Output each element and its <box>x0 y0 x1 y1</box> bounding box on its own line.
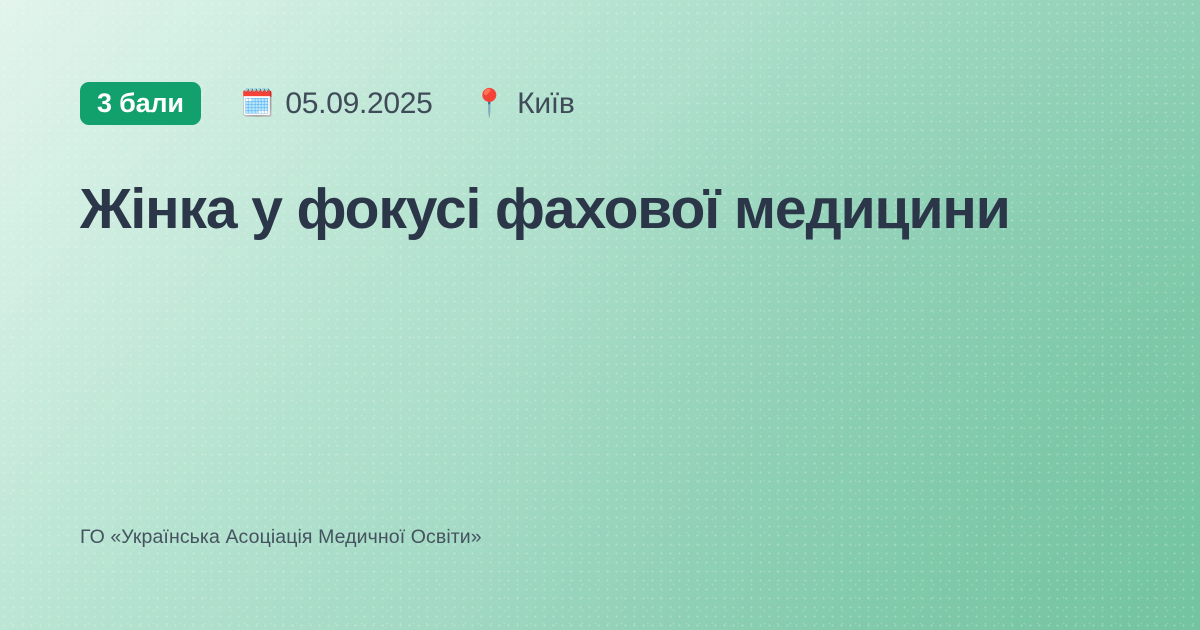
event-date-value: 05.09.2025 <box>285 89 432 119</box>
event-location: 📍 Київ <box>473 89 575 119</box>
calendar-icon: 🗓️ <box>241 90 275 117</box>
organizer-name: ГО «Українська Асоціація Медичної Освіти… <box>80 525 482 550</box>
card-content: 3 бали 🗓️ 05.09.2025 📍 Київ Жінка у фоку… <box>80 0 1120 630</box>
event-location-value: Київ <box>517 89 574 119</box>
event-meta-row: 3 бали 🗓️ 05.09.2025 📍 Київ <box>80 82 574 125</box>
page-title: Жінка у фокусі фахової медицини <box>80 178 1010 242</box>
points-badge: 3 бали <box>80 82 201 125</box>
map-pin-icon: 📍 <box>473 90 507 117</box>
event-announcement-card: 3 бали 🗓️ 05.09.2025 📍 Київ Жінка у фоку… <box>0 0 1200 630</box>
event-date: 🗓️ 05.09.2025 <box>241 89 433 119</box>
